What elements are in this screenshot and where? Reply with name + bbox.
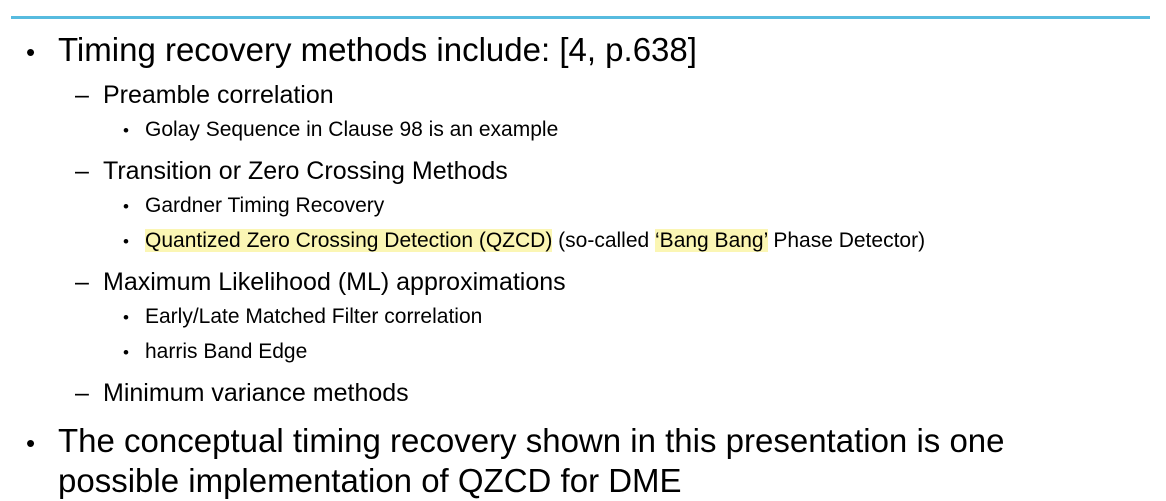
bullet-golay-sequence: •Golay Sequence in Clause 98 is an examp… (0, 113, 1166, 148)
bullet-gardner-timing-recovery: •Gardner Timing Recovery (0, 189, 1166, 224)
bullet-marker-level2-icon: – (75, 78, 103, 113)
bullet-marker-level2-icon: – (75, 154, 103, 189)
bullet-preamble-correlation-text: Preamble correlation (103, 78, 1166, 113)
bullet-spacer (0, 411, 1166, 421)
bullet-conceptual-timing-recovery-segment-0: The conceptual timing recovery shown in … (58, 422, 1014, 499)
bullet-gardner-timing-recovery-text: Gardner Timing Recovery (145, 189, 1166, 223)
bullet-marker-level3-icon: • (123, 336, 145, 370)
bullet-minimum-variance-methods-text: Minimum variance methods (103, 376, 1166, 411)
slide-canvas: •Timing recovery methods include: [4, p.… (0, 0, 1166, 493)
bullet-maximum-likelihood-approximations: –Maximum Likelihood (ML) approximations (0, 265, 1166, 300)
bullet-minimum-variance-methods: –Minimum variance methods (0, 376, 1166, 411)
bullet-preamble-correlation-segment-0: Preamble correlation (103, 81, 334, 109)
bullet-quantized-zero-crossing-detection-text: Quantized Zero Crossing Detection (QZCD)… (145, 224, 1166, 258)
bullet-list: •Timing recovery methods include: [4, p.… (0, 30, 1166, 501)
bullet-quantized-zero-crossing-detection-segment-1: (so-called (552, 229, 655, 252)
bullet-minimum-variance-methods-segment-0: Minimum variance methods (103, 379, 409, 407)
accent-rule-divider (11, 16, 1150, 19)
bullet-marker-level1-icon: • (26, 423, 58, 463)
bullet-early-late-matched-filter-segment-0: Early/Late Matched Filter correlation (145, 305, 482, 328)
bullet-marker-level3-icon: • (123, 225, 145, 259)
bullet-maximum-likelihood-approximations-segment-0: Maximum Likelihood (ML) approximations (103, 268, 566, 296)
bullet-conceptual-timing-recovery-text: The conceptual timing recovery shown in … (58, 421, 1166, 501)
bullet-quantized-zero-crossing-detection: •Quantized Zero Crossing Detection (QZCD… (0, 224, 1166, 259)
bullet-transition-zero-crossing-segment-0: Transition or Zero Crossing Methods (103, 157, 508, 185)
bullet-harris-band-edge: •harris Band Edge (0, 335, 1166, 370)
bullet-harris-band-edge-text: harris Band Edge (145, 335, 1166, 369)
bullet-harris-band-edge-segment-0: harris Band Edge (145, 340, 307, 363)
bullet-marker-level3-icon: • (123, 301, 145, 335)
bullet-golay-sequence-segment-0: Golay Sequence in Clause 98 is an exampl… (145, 118, 558, 141)
bullet-quantized-zero-crossing-detection-highlighted-segment-2: ‘Bang Bang’ (655, 229, 767, 252)
bullet-marker-level3-icon: • (123, 114, 145, 148)
bullet-quantized-zero-crossing-detection-highlighted-segment-0: Quantized Zero Crossing Detection (QZCD) (145, 229, 552, 252)
bullet-early-late-matched-filter-text: Early/Late Matched Filter correlation (145, 300, 1166, 334)
bullet-preamble-correlation: –Preamble correlation (0, 78, 1166, 113)
bullet-marker-level2-icon: – (75, 265, 103, 300)
bullet-timing-recovery-methods: •Timing recovery methods include: [4, p.… (0, 30, 1166, 72)
bullet-gardner-timing-recovery-segment-0: Gardner Timing Recovery (145, 194, 384, 217)
bullet-timing-recovery-methods-text: Timing recovery methods include: [4, p.6… (58, 30, 1166, 70)
bullet-quantized-zero-crossing-detection-segment-3: Phase Detector) (768, 229, 926, 252)
bullet-transition-zero-crossing: –Transition or Zero Crossing Methods (0, 154, 1166, 189)
bullet-marker-level1-icon: • (26, 32, 58, 72)
bullet-maximum-likelihood-approximations-text: Maximum Likelihood (ML) approximations (103, 265, 1166, 300)
bullet-transition-zero-crossing-text: Transition or Zero Crossing Methods (103, 154, 1166, 189)
bullet-golay-sequence-text: Golay Sequence in Clause 98 is an exampl… (145, 113, 1166, 147)
bullet-early-late-matched-filter: •Early/Late Matched Filter correlation (0, 300, 1166, 335)
bullet-conceptual-timing-recovery: •The conceptual timing recovery shown in… (0, 421, 1166, 501)
bullet-marker-level3-icon: • (123, 190, 145, 224)
bullet-timing-recovery-methods-segment-0: Timing recovery methods include: [4, p.6… (58, 31, 697, 68)
bullet-marker-level2-icon: – (75, 376, 103, 411)
